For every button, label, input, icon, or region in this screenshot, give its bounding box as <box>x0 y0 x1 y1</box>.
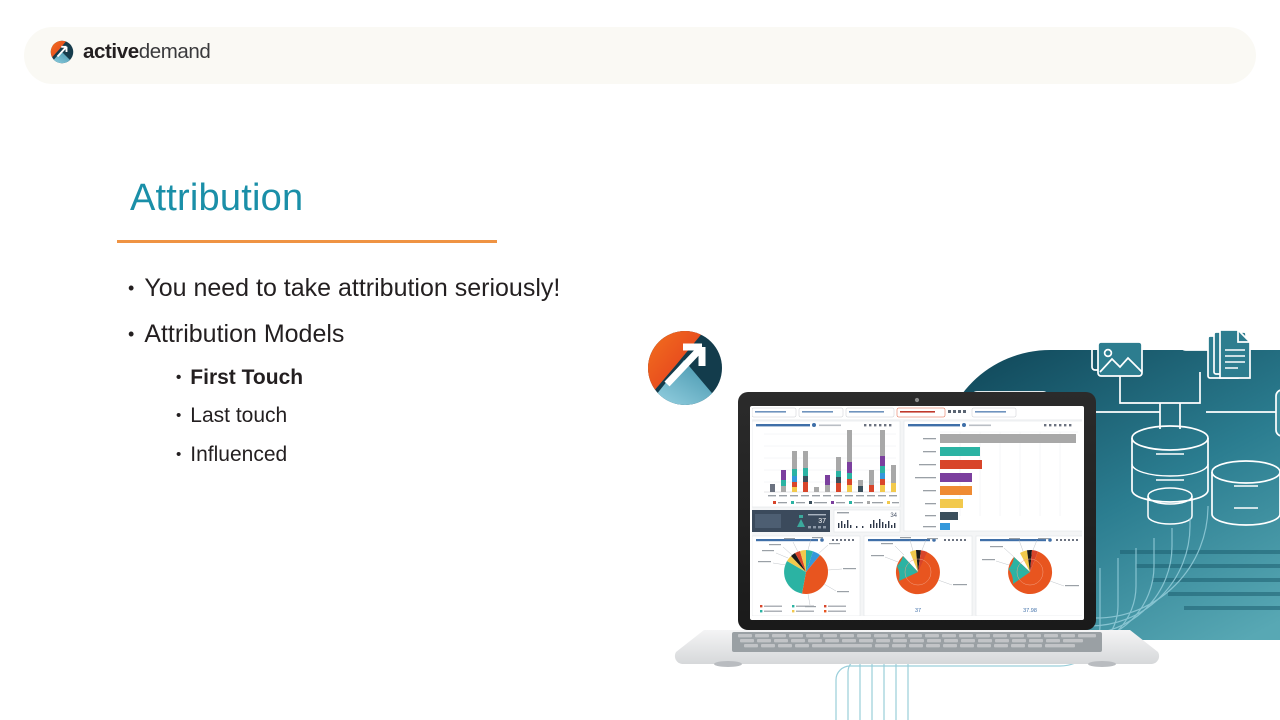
list-item: • You need to take attribution seriously… <box>128 272 688 304</box>
bullet-glyph: • <box>128 279 134 297</box>
brand-lockup: activedemand <box>50 40 210 64</box>
dashboard-tab-bar[interactable] <box>750 406 1084 419</box>
kpi-card: 37 <box>752 510 830 532</box>
activedemand-logo-badge <box>645 325 725 412</box>
list-item: • Last touch <box>176 402 688 429</box>
list-item: • First Touch <box>176 364 688 391</box>
csv-label: CSV <box>1186 335 1209 347</box>
last-conversion-pie-value: 37.98 <box>1023 608 1037 614</box>
list-item-label: Attribution Models <box>144 318 344 350</box>
pie-chart-cards: 37 <box>752 536 1084 616</box>
page-title: Attribution <box>130 178 303 220</box>
bullet-glyph: • <box>176 447 181 462</box>
document-stack-icon <box>1208 330 1250 378</box>
list-item-label: You need to take attribution seriously! <box>144 272 560 304</box>
list-item-label: Last touch <box>190 402 287 429</box>
sparkline-card: 34 <box>834 510 900 532</box>
brand-wordmark-light: demand <box>139 40 211 63</box>
last-touch-pie-value: 37 <box>915 608 921 614</box>
video-play-icon <box>1276 390 1280 436</box>
brand-wordmark-bold: active <box>83 40 139 63</box>
header-bar: activedemand <box>24 27 1256 84</box>
list-item: • Influenced <box>176 441 688 468</box>
list-item: • Attribution Models <box>128 318 688 350</box>
slide-root: activedemand Attribution • You need to t… <box>0 0 1280 720</box>
dashboard-screen: 37 34 <box>750 406 1084 620</box>
stacked-column-chart-card <box>752 421 900 507</box>
horizontal-bar-chart-card <box>904 421 1084 531</box>
bullet-list: • You need to take attribution seriously… <box>128 272 688 479</box>
artwork-illustration: CSV </> <box>640 320 1280 720</box>
activedemand-logo-icon <box>50 40 74 64</box>
list-item-label: Influenced <box>190 441 287 468</box>
bullet-glyph: • <box>176 370 181 385</box>
webcam-icon <box>915 398 919 402</box>
title-underline-rule <box>117 240 497 243</box>
list-item-label: First Touch <box>190 364 303 391</box>
sparkline-value: 34 <box>890 513 897 519</box>
bullet-glyph: • <box>128 325 134 343</box>
laptop-device: 37 34 <box>675 392 1159 667</box>
kpi-value: 37 <box>818 518 826 525</box>
brand-wordmark: activedemand <box>83 42 210 63</box>
bullet-glyph: • <box>176 408 181 423</box>
image-icon <box>1092 336 1142 376</box>
